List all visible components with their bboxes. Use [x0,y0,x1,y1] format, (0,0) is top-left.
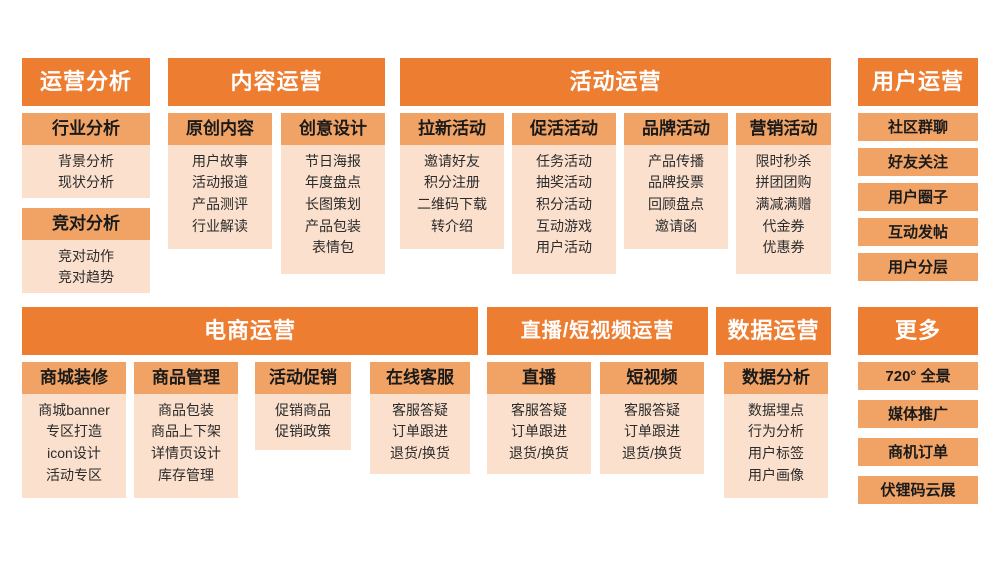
group-body-engagement-activity: 任务活动 抽奖活动 积分活动 互动游戏 用户活动 [512,145,616,267]
list-item[interactable]: 退货/换货 [491,443,587,465]
list-item[interactable]: 活动专区 [26,465,122,487]
group-mall-decoration[interactable]: 商城装修 商城banner 专区打造 icon设计 活动专区 [22,362,126,498]
group-body-creative-design: 节日海报 年度盘点 长图策划 产品包装 表情包 [281,145,385,267]
more-item-1[interactable]: 媒体推广 [858,400,978,428]
user-operation-item-4[interactable]: 用户分层 [858,253,978,281]
group-body-new-user-activity: 邀请好友 积分注册 二维码下载 转介绍 [400,145,504,246]
group-original-content[interactable]: 原创内容 用户故事 活动报道 产品测评 行业解读 [168,113,272,249]
group-title-data-analysis: 数据分析 [724,362,828,394]
group-body-brand-activity: 产品传播 品牌投票 回顾盘点 邀请函 [624,145,728,246]
list-item[interactable]: 二维码下载 [404,194,500,216]
list-item[interactable]: 用户故事 [172,151,268,173]
more-item-2[interactable]: 商机订单 [858,438,978,466]
list-item[interactable]: 代金券 [740,216,827,238]
list-item[interactable]: 客服答疑 [604,400,700,422]
list-item[interactable]: 邀请函 [628,216,724,238]
list-item[interactable]: 长图策划 [285,194,381,216]
group-short-video[interactable]: 短视频 客服答疑 订单跟进 退货/换货 [600,362,704,474]
list-item[interactable]: 背景分析 [26,151,146,173]
list-item[interactable]: 退货/换货 [374,443,466,465]
group-title-engagement-activity: 促活活动 [512,113,616,145]
more-item-3[interactable]: 伏锂码云展 [858,476,978,504]
section-header-operation-analysis[interactable]: 运营分析 [22,58,150,106]
list-item[interactable]: 竞对趋势 [26,267,146,289]
list-item[interactable]: 活动报道 [172,172,268,194]
section-header-content-operation[interactable]: 内容运营 [168,58,385,106]
section-header-more[interactable]: 更多 [858,307,978,355]
group-body-competitor-analysis: 竞对动作 竞对趋势 [22,240,150,297]
group-body-marketing-activity: 限时秒杀 拼团团购 满减满赠 代金券 优惠券 [736,145,831,267]
group-body-live-streaming: 客服答疑 订单跟进 退货/换货 [487,394,591,473]
list-item[interactable]: 用户画像 [728,465,824,487]
list-item[interactable]: 积分活动 [516,194,612,216]
list-item[interactable]: 促销商品 [259,400,347,422]
list-item[interactable]: 产品传播 [628,151,724,173]
list-item[interactable]: 任务活动 [516,151,612,173]
group-title-online-service: 在线客服 [370,362,470,394]
section-header-data-operation[interactable]: 数据运营 [716,307,831,355]
list-item[interactable]: 数据埋点 [728,400,824,422]
group-body-promotion: 促销商品 促销政策 [255,394,351,451]
list-item[interactable]: icon设计 [26,443,122,465]
group-title-industry-analysis: 行业分析 [22,113,150,145]
list-item[interactable]: 互动游戏 [516,216,612,238]
list-item[interactable]: 用户标签 [728,443,824,465]
list-item[interactable]: 回顾盘点 [628,194,724,216]
group-marketing-activity[interactable]: 营销活动 限时秒杀 拼团团购 满减满赠 代金券 优惠券 [736,113,831,274]
section-header-ecommerce-operation[interactable]: 电商运营 [22,307,478,355]
user-operation-item-3[interactable]: 互动发帖 [858,218,978,246]
list-item[interactable]: 行业解读 [172,216,268,238]
list-item[interactable]: 限时秒杀 [740,151,827,173]
group-title-marketing-activity: 营销活动 [736,113,831,145]
list-item[interactable]: 商城banner [26,400,122,422]
section-header-user-operation[interactable]: 用户运营 [858,58,978,106]
list-item[interactable]: 商品包装 [138,400,234,422]
list-item[interactable]: 邀请好友 [404,151,500,173]
group-creative-design[interactable]: 创意设计 节日海报 年度盘点 长图策划 产品包装 表情包 [281,113,385,274]
section-header-live-video-operation[interactable]: 直播/短视频运营 [487,307,708,355]
group-title-promotion: 活动促销 [255,362,351,394]
list-item[interactable]: 用户活动 [516,237,612,259]
group-title-brand-activity: 品牌活动 [624,113,728,145]
list-item[interactable]: 满减满赠 [740,194,827,216]
list-item[interactable]: 拼团团购 [740,172,827,194]
operations-map-canvas: 运营分析 行业分析 背景分析 现状分析 竞对分析 竞对动作 竞对趋势 内容运营 … [0,0,1000,563]
group-body-product-management: 商品包装 商品上下架 详情页设计 库存管理 [134,394,238,495]
group-title-mall-decoration: 商城装修 [22,362,126,394]
group-competitor-analysis[interactable]: 竞对分析 竞对动作 竞对趋势 [22,208,150,293]
list-item[interactable]: 抽奖活动 [516,172,612,194]
list-item[interactable]: 积分注册 [404,172,500,194]
group-body-short-video: 客服答疑 订单跟进 退货/换货 [600,394,704,473]
list-item[interactable]: 订单跟进 [374,421,466,443]
list-item[interactable]: 优惠券 [740,237,827,259]
group-body-data-analysis: 数据埋点 行为分析 用户标签 用户画像 [724,394,828,495]
list-item[interactable]: 退货/换货 [604,443,700,465]
list-item[interactable]: 专区打造 [26,421,122,443]
list-item[interactable]: 商品上下架 [138,421,234,443]
group-body-original-content: 用户故事 活动报道 产品测评 行业解读 [168,145,272,246]
group-title-product-management: 商品管理 [134,362,238,394]
user-operation-item-0[interactable]: 社区群聊 [858,113,978,141]
list-item[interactable]: 客服答疑 [491,400,587,422]
user-operation-item-2[interactable]: 用户圈子 [858,183,978,211]
more-item-0[interactable]: 720° 全景 [858,362,978,390]
group-new-user-activity[interactable]: 拉新活动 邀请好友 积分注册 二维码下载 转介绍 [400,113,504,249]
group-title-competitor-analysis: 竞对分析 [22,208,150,240]
group-body-online-service: 客服答疑 订单跟进 退货/换货 [370,394,470,473]
list-item[interactable]: 详情页设计 [138,443,234,465]
group-title-original-content: 原创内容 [168,113,272,145]
group-title-short-video: 短视频 [600,362,704,394]
list-item[interactable]: 行为分析 [728,421,824,443]
list-item[interactable]: 现状分析 [26,172,146,194]
list-item[interactable]: 促销政策 [259,421,347,443]
group-engagement-activity[interactable]: 促活活动 任务活动 抽奖活动 积分活动 互动游戏 用户活动 [512,113,616,274]
list-item[interactable]: 订单跟进 [604,421,700,443]
section-header-activity-operation[interactable]: 活动运营 [400,58,831,106]
group-title-live-streaming: 直播 [487,362,591,394]
list-item[interactable]: 品牌投票 [628,172,724,194]
group-brand-activity[interactable]: 品牌活动 产品传播 品牌投票 回顾盘点 邀请函 [624,113,728,249]
group-body-industry-analysis: 背景分析 现状分析 [22,145,150,202]
user-operation-item-1[interactable]: 好友关注 [858,148,978,176]
group-data-analysis[interactable]: 数据分析 数据埋点 行为分析 用户标签 用户画像 [724,362,828,498]
group-product-management[interactable]: 商品管理 商品包装 商品上下架 详情页设计 库存管理 [134,362,238,498]
list-item[interactable]: 转介绍 [404,216,500,238]
list-item[interactable]: 产品测评 [172,194,268,216]
list-item[interactable]: 年度盘点 [285,172,381,194]
list-item[interactable]: 竞对动作 [26,246,146,268]
group-body-mall-decoration: 商城banner 专区打造 icon设计 活动专区 [22,394,126,495]
list-item[interactable]: 节日海报 [285,151,381,173]
list-item[interactable]: 库存管理 [138,465,234,487]
group-promotion[interactable]: 活动促销 促销商品 促销政策 [255,362,351,450]
list-item[interactable]: 表情包 [285,237,381,259]
list-item[interactable]: 客服答疑 [374,400,466,422]
group-title-new-user-activity: 拉新活动 [400,113,504,145]
group-live-streaming[interactable]: 直播 客服答疑 订单跟进 退货/换货 [487,362,591,474]
list-item[interactable]: 订单跟进 [491,421,587,443]
group-industry-analysis[interactable]: 行业分析 背景分析 现状分析 [22,113,150,198]
group-online-service[interactable]: 在线客服 客服答疑 订单跟进 退货/换货 [370,362,470,474]
list-item[interactable]: 产品包装 [285,216,381,238]
group-title-creative-design: 创意设计 [281,113,385,145]
